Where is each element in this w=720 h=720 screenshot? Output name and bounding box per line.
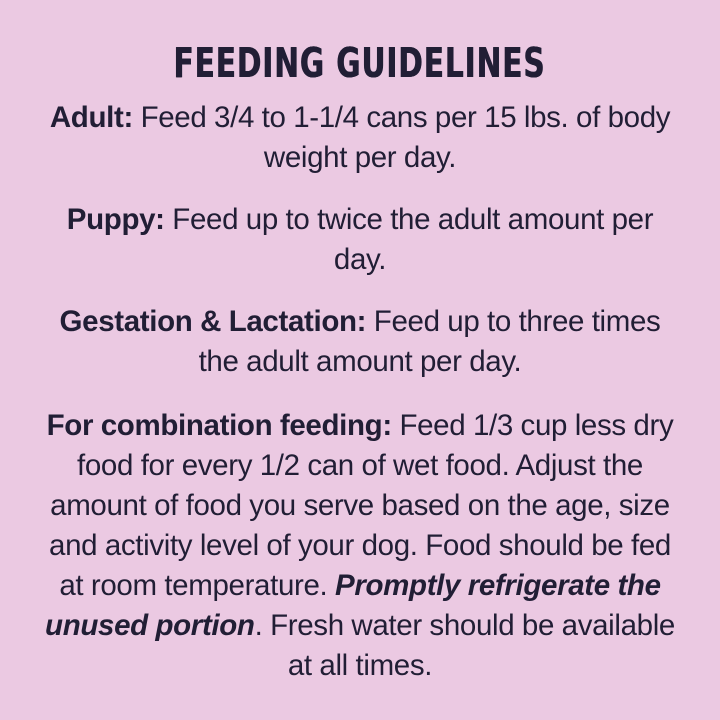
guideline-label-adult: Adult: bbox=[50, 101, 133, 134]
guideline-label-combination-feeding: For combination feeding: bbox=[47, 409, 392, 442]
guidelines-body: Adult: Feed 3/4 to 1-1/4 cans per 15 lbs… bbox=[44, 96, 676, 686]
page-title: FEEDING GUIDELINES bbox=[174, 40, 546, 86]
guideline-paragraph-gestation-lactation: Gestation & Lactation: Feed up to three … bbox=[44, 302, 676, 382]
guideline-label-gestation-lactation: Gestation & Lactation: bbox=[60, 305, 367, 338]
feeding-guidelines-panel: FEEDING GUIDELINES Adult: Feed 3/4 to 1-… bbox=[0, 0, 720, 720]
guideline-paragraph-puppy: Puppy: Feed up to twice the adult amount… bbox=[44, 200, 676, 280]
guideline-text-puppy: Feed up to twice the adult amount per da… bbox=[165, 203, 654, 276]
guideline-text-adult: Feed 3/4 to 1-1/4 cans per 15 lbs. of bo… bbox=[133, 101, 670, 174]
guideline-label-puppy: Puppy: bbox=[67, 203, 165, 236]
guideline-paragraph-combination-feeding: For combination feeding: Feed 1/3 cup le… bbox=[44, 406, 676, 686]
guideline-text-combination-feeding-part2: . Fresh water should be available at all… bbox=[255, 609, 675, 682]
guideline-paragraph-adult: Adult: Feed 3/4 to 1-1/4 cans per 15 lbs… bbox=[44, 98, 676, 178]
